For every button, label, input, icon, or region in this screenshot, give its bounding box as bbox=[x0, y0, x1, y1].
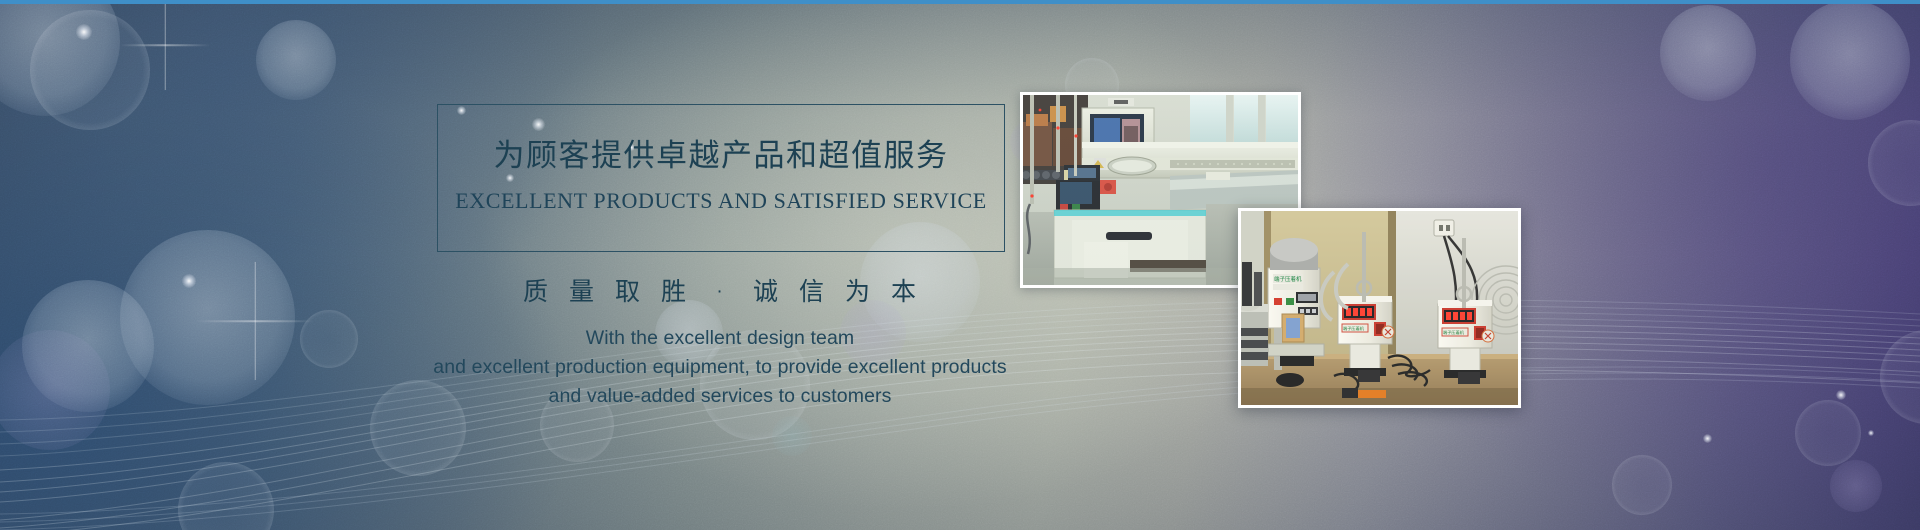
description-line-1: With the excellent design team bbox=[320, 324, 1120, 353]
slogan-char-6: 信 bbox=[789, 272, 835, 308]
slogan-char-3: 取 bbox=[605, 272, 651, 308]
headline-frame bbox=[437, 104, 1005, 252]
slogan-char-8: 本 bbox=[881, 272, 927, 308]
slogan-line: 质量取胜·诚信为本 bbox=[420, 272, 1020, 308]
slogan-char-1: 质 bbox=[513, 272, 559, 308]
slogan-char-7: 为 bbox=[835, 272, 881, 308]
headline-english: EXCELLENT PRODUCTS AND SATISFIED SERVICE bbox=[437, 188, 1005, 214]
description-line-3: and value-added services to customers bbox=[320, 382, 1120, 411]
slogan-char-4: 胜 bbox=[651, 272, 697, 308]
description-paragraph: With the excellent design team and excel… bbox=[320, 324, 1120, 411]
slogan-separator: · bbox=[697, 281, 743, 303]
factory-photo-crimping-machines: 端子压着机 bbox=[1238, 208, 1521, 408]
headline-chinese: 为顾客提供卓越产品和超值服务 bbox=[437, 130, 1005, 175]
top-accent-rule bbox=[0, 0, 1920, 4]
crimping-machines-illustration: 端子压着机 bbox=[1238, 208, 1521, 408]
slogan-char-2: 量 bbox=[559, 272, 605, 308]
company-hero-banner: 为顾客提供卓越产品和超值服务 EXCELLENT PRODUCTS AND SA… bbox=[0, 0, 1920, 530]
slogan-char-5: 诚 bbox=[743, 272, 789, 308]
description-line-2: and excellent production equipment, to p… bbox=[320, 353, 1120, 382]
